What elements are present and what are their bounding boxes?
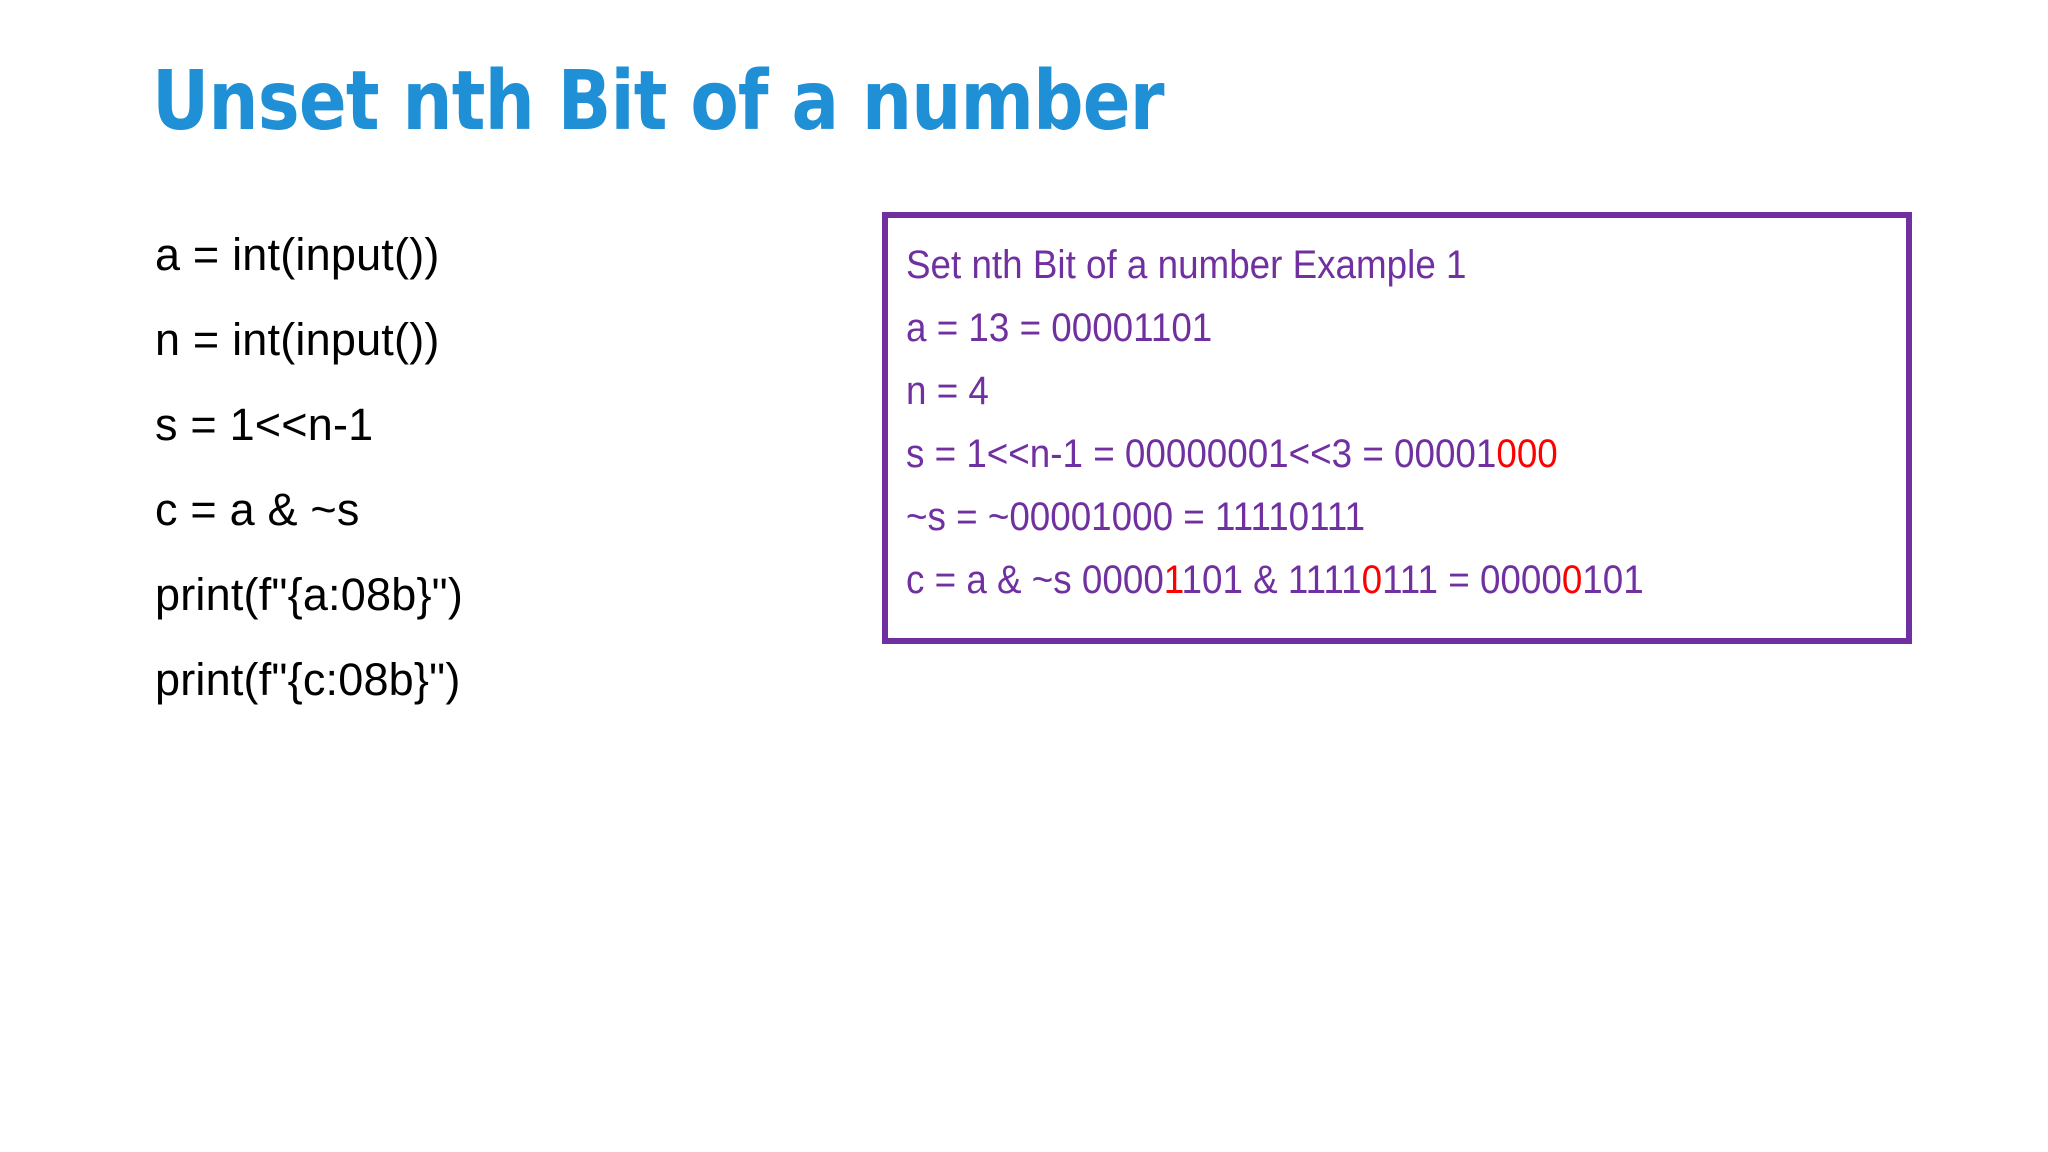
plain-text: ~s = ~00001000 = 11110111 bbox=[906, 495, 1365, 539]
example-line-not-s: ~s = ~00001000 = 11110111 bbox=[906, 486, 1826, 549]
example-line-heading: Set nth Bit of a number Example 1 bbox=[906, 234, 1826, 297]
plain-text: Set nth Bit of a number Example 1 bbox=[906, 243, 1466, 287]
highlighted-bits: 0 bbox=[1362, 558, 1382, 602]
code-column: a = int(input()) n = int(input()) s = 1<… bbox=[155, 212, 855, 722]
plain-text: c = a & ~s 0000 bbox=[906, 558, 1164, 602]
example-line-s: s = 1<<n-1 = 00000001<<3 = 00001000 bbox=[906, 423, 1826, 486]
plain-text: 111 = 0000 bbox=[1382, 558, 1562, 602]
plain-text: a = 13 = 00001101 bbox=[906, 306, 1212, 350]
plain-text: 101 & 1111 bbox=[1182, 558, 1362, 602]
plain-text: 101 bbox=[1582, 558, 1643, 602]
code-line: s = 1<<n-1 bbox=[155, 382, 855, 467]
code-line: print(f"{c:08b}") bbox=[155, 637, 855, 722]
code-line: n = int(input()) bbox=[155, 297, 855, 382]
code-line: a = int(input()) bbox=[155, 212, 855, 297]
example-line-n: n = 4 bbox=[906, 360, 1826, 423]
plain-text: s = 1<<n-1 = 00000001<<3 = 00001 bbox=[906, 432, 1496, 476]
example-box: Set nth Bit of a number Example 1 a = 13… bbox=[882, 212, 1912, 644]
highlighted-bits: 0 bbox=[1562, 558, 1582, 602]
page-title: Unset nth Bit of a number bbox=[152, 54, 1614, 150]
slide-canvas: Unset nth Bit of a number a = int(input(… bbox=[0, 0, 2048, 1152]
example-line-a: a = 13 = 00001101 bbox=[906, 297, 1826, 360]
highlighted-bits: 000 bbox=[1496, 432, 1557, 476]
highlighted-bits: 1 bbox=[1164, 558, 1182, 602]
plain-text: n = 4 bbox=[906, 369, 989, 413]
code-line: print(f"{a:08b}") bbox=[155, 552, 855, 637]
example-box-content: Set nth Bit of a number Example 1 a = 13… bbox=[888, 218, 1906, 612]
code-line: c = a & ~s bbox=[155, 467, 855, 552]
example-line-c: c = a & ~s 00001101 & 11110111 = 0000010… bbox=[906, 549, 1826, 612]
